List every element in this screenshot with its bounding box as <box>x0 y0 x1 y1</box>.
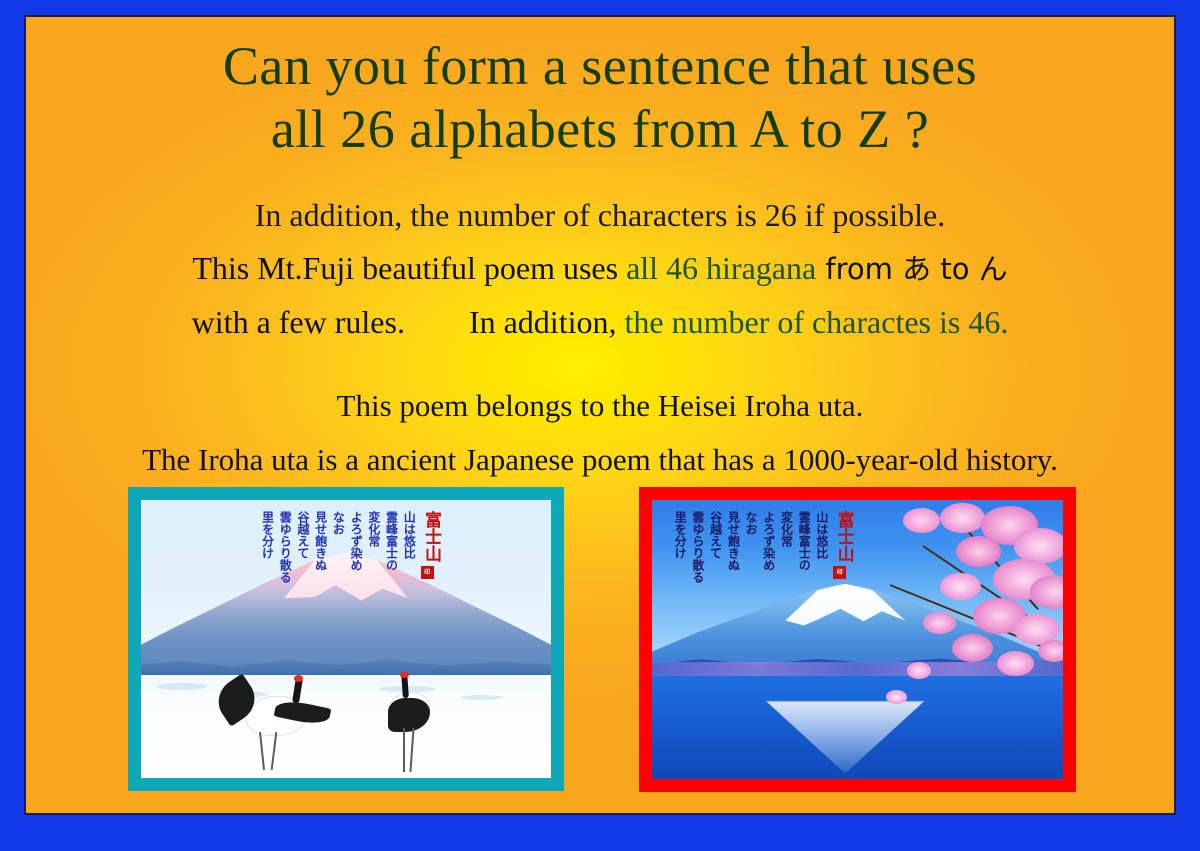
left-poem-title-wrap: 富士山 印 <box>415 511 439 579</box>
sakura-blossom <box>997 651 1034 676</box>
crane-right <box>371 672 449 772</box>
poem-column: 見せ飽きぬ <box>314 511 327 571</box>
sakura-blossom <box>940 503 985 534</box>
sakura-blossom <box>956 536 1001 567</box>
crane-wing <box>388 698 430 732</box>
poem-column: 見せ飽きぬ <box>727 511 740 571</box>
right-poem-title: 富士山 <box>834 511 852 562</box>
poem-column: 里を分け <box>673 511 686 559</box>
poem-column: なお <box>332 511 345 535</box>
body-line-2: This Mt.Fuji beautiful poem uses all 46 … <box>26 242 1174 296</box>
poem-column: 変化常 <box>367 511 380 547</box>
poster-root: Can you form a sentence that uses all 26… <box>0 0 1200 851</box>
right-photo-image: 富士山 印 山は悠比 霊峰富士の 変化常 よろず染め なお 見せ飽きぬ 谷越えて… <box>652 500 1063 779</box>
left-photo-frame: 富士山 印 山は悠比 霊峰富士の 変化常 よろず染め なお 見せ飽きぬ 谷越えて… <box>128 487 564 791</box>
body-block: In addition, the number of characters is… <box>26 189 1174 349</box>
poem-column: 変化常 <box>780 511 793 547</box>
crane-leg <box>270 732 277 770</box>
sakura-blossom <box>952 634 993 662</box>
lower-line-1: This poem belongs to the Heisei Iroha ut… <box>26 379 1174 433</box>
left-poem-overlay: 富士山 印 山は悠比 霊峰富士の 変化常 よろず染め なお 見せ飽きぬ 谷越えて… <box>256 511 439 583</box>
sakura-blossom <box>907 662 932 679</box>
body-line-2-part-c: from あ to ん <box>816 252 1007 286</box>
sakura-blossom <box>1038 640 1063 662</box>
poem-column: 雲ゆらり散る <box>691 511 704 583</box>
left-snowfield <box>141 675 551 778</box>
body-line-3-part-a: with a few rules. <box>192 304 405 340</box>
poem-column: よろず染め <box>349 511 362 571</box>
body-line-3: with a few rules. In addition, the numbe… <box>26 296 1174 349</box>
left-photo-image: 富士山 印 山は悠比 霊峰富士の 変化常 よろず染め なお 見せ飽きぬ 谷越えて… <box>141 500 551 778</box>
right-poem-overlay: 富士山 印 山は悠比 霊峰富士の 変化常 よろず染め なお 見せ飽きぬ 谷越えて… <box>668 511 851 583</box>
headline-line-1: Can you form a sentence that uses <box>26 35 1174 98</box>
poem-column: 雲ゆらり散る <box>279 511 292 583</box>
poem-column: 山は悠比 <box>403 511 416 559</box>
poem-column: よろず染め <box>762 511 775 571</box>
lower-block: This poem belongs to the Heisei Iroha ut… <box>26 379 1174 487</box>
right-photo-frame: 富士山 印 山は悠比 霊峰富士の 変化常 よろず染め なお 見せ飽きぬ 谷越えて… <box>639 487 1076 792</box>
poem-column: 霊峰富士の <box>385 511 398 571</box>
poem-column: 谷越えて <box>709 511 722 559</box>
poem-column: 山は悠比 <box>815 511 828 559</box>
poem-column: 里を分け <box>261 511 274 559</box>
lower-line-2: The Iroha uta is a ancient Japanese poem… <box>26 433 1174 487</box>
crane-leg <box>403 728 405 772</box>
body-line-2-part-a: This Mt.Fuji beautiful poem uses <box>192 250 626 286</box>
crane-leg <box>259 732 265 770</box>
body-line-3-spacer <box>405 304 469 340</box>
poem-column: 谷越えて <box>296 511 309 559</box>
crane-leg <box>410 728 415 772</box>
body-line-2-highlight: all 46 hiragana <box>626 250 816 286</box>
crane-left <box>215 675 346 770</box>
left-poem-seal: 印 <box>421 566 434 579</box>
crane-head <box>294 675 303 682</box>
sakura-blossom <box>923 612 956 634</box>
left-snow-patch <box>461 695 502 700</box>
headline-block: Can you form a sentence that uses all 26… <box>26 35 1174 161</box>
body-line-3-highlight: the number of charactes is 46. <box>624 304 1008 340</box>
poem-column: なお <box>744 511 757 535</box>
right-poem-seal: 印 <box>833 566 846 579</box>
left-poem-title: 富士山 <box>421 511 439 562</box>
poster-card: Can you form a sentence that uses all 26… <box>24 15 1176 815</box>
sakura-blossom <box>886 690 907 704</box>
body-line-1: In addition, the number of characters is… <box>26 189 1174 242</box>
headline-line-2: all 26 alphabets from A to Z ? <box>26 98 1174 161</box>
body-line-3-part-b: In addition, <box>469 304 625 340</box>
sakura-blossom <box>940 573 981 601</box>
poem-column: 霊峰富士の <box>797 511 810 571</box>
right-poem-title-wrap: 富士山 印 <box>828 511 852 579</box>
